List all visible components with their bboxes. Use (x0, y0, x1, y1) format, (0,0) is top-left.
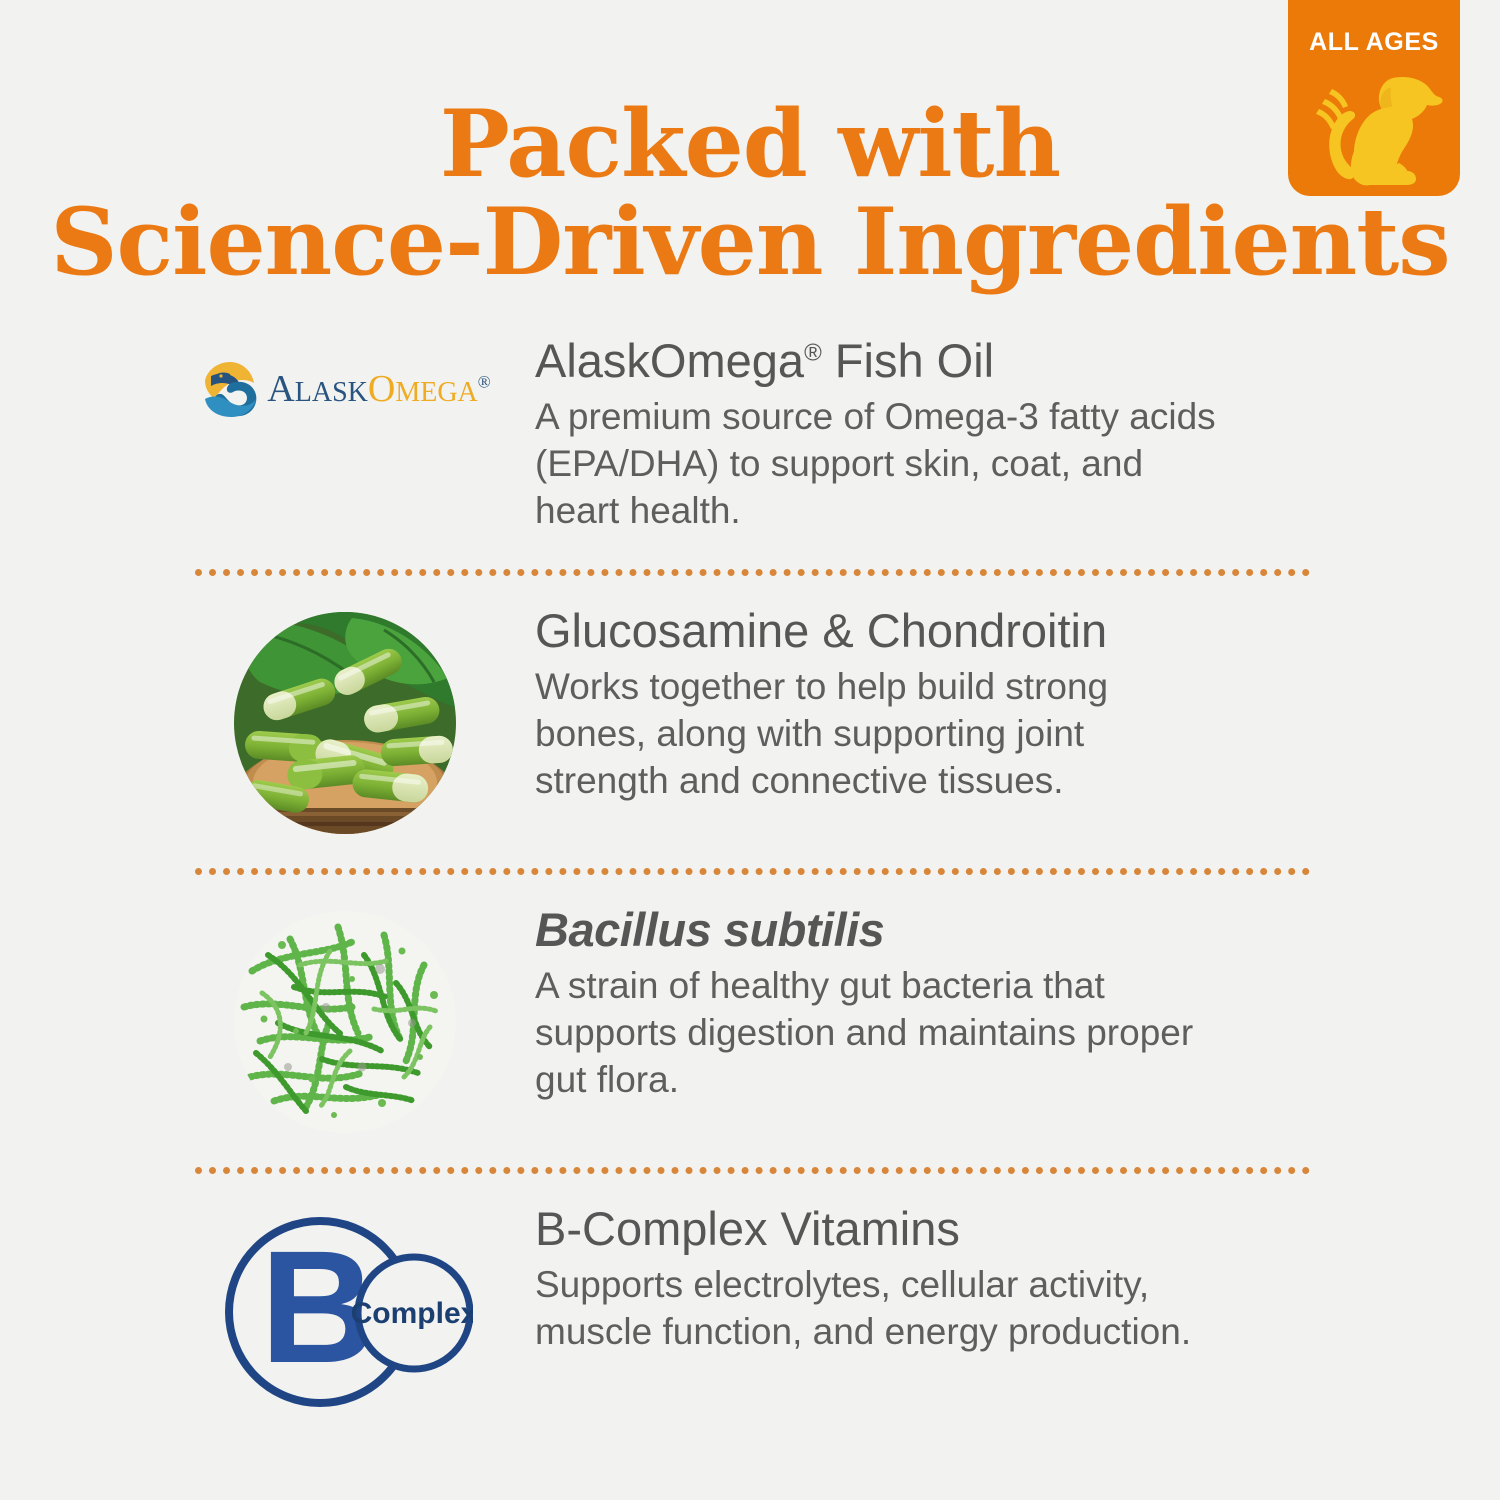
ingredient-row-alaskomega: ALASKOMEGA® AlaskOmega® Fish Oil A premi… (195, 336, 1310, 535)
headline-line-1: Packed with (0, 95, 1500, 193)
ingredient-media-glucosamine (195, 606, 495, 834)
ingredient-row-glucosamine: Glucosamine & Chondroitin Works together… (195, 606, 1310, 834)
ingredient-row-b-complex: B Complex B-Complex Vitamins Supports el… (195, 1204, 1310, 1415)
bacteria-micrograph-photo (234, 911, 456, 1133)
ingredient-body-b-complex: B-Complex Vitamins Supports electrolytes… (495, 1204, 1310, 1355)
ingredient-description-b-complex: Supports electrolytes, cellular activity… (535, 1261, 1225, 1356)
ingredient-media-alaskomega: ALASKOMEGA® (195, 336, 495, 404)
divider-2 (195, 868, 1310, 875)
ingredient-description-alaskomega: A premium source of Omega-3 fatty acids … (535, 393, 1225, 535)
ingredient-body-bacillus: Bacillus subtilis A strain of healthy gu… (495, 905, 1310, 1104)
headline-line-2: Science-Driven Ingredients (0, 193, 1500, 291)
alaskomega-wordmark: ALASKOMEGA® (267, 370, 490, 408)
ingredient-row-bacillus: Bacillus subtilis A strain of healthy gu… (195, 905, 1310, 1133)
alaskomega-logo: ALASKOMEGA® (199, 358, 490, 420)
ingredient-body-glucosamine: Glucosamine & Chondroitin Works together… (495, 606, 1310, 805)
ingredient-title-text: AlaskOmega (535, 334, 804, 387)
all-ages-label: ALL AGES (1309, 30, 1439, 55)
ingredient-description-glucosamine: Works together to help build strong bone… (535, 663, 1225, 805)
divider-1 (195, 569, 1310, 576)
ingredient-body-alaskomega: AlaskOmega® Fish Oil A premium source of… (495, 336, 1310, 535)
ingredient-description-bacillus: A strain of healthy gut bacteria that su… (535, 962, 1225, 1104)
alaskomega-mark-icon (199, 358, 261, 420)
ingredient-title-glucosamine: Glucosamine & Chondroitin (535, 606, 1310, 657)
ingredient-title-b-complex: B-Complex Vitamins (535, 1204, 1310, 1255)
ingredient-title-suffix: Fish Oil (822, 334, 994, 387)
capsules-illustration (234, 612, 456, 834)
registered-mark: ® (804, 339, 822, 366)
b-complex-caption: Complex (350, 1297, 472, 1330)
b-complex-logo: B Complex (218, 1210, 473, 1415)
ingredients-list: ALASKOMEGA® AlaskOmega® Fish Oil A premi… (195, 336, 1310, 1415)
ingredient-title-bacillus: Bacillus subtilis (535, 905, 1310, 956)
bacteria-illustration (234, 911, 456, 1133)
ingredient-media-bacillus (195, 905, 495, 1133)
divider-3 (195, 1167, 1310, 1174)
ingredient-title-alaskomega: AlaskOmega® Fish Oil (535, 336, 1310, 387)
page-title: Packed with Science-Driven Ingredients (0, 95, 1500, 290)
ingredient-media-b-complex: B Complex (195, 1204, 495, 1415)
green-capsules-photo (234, 612, 456, 834)
